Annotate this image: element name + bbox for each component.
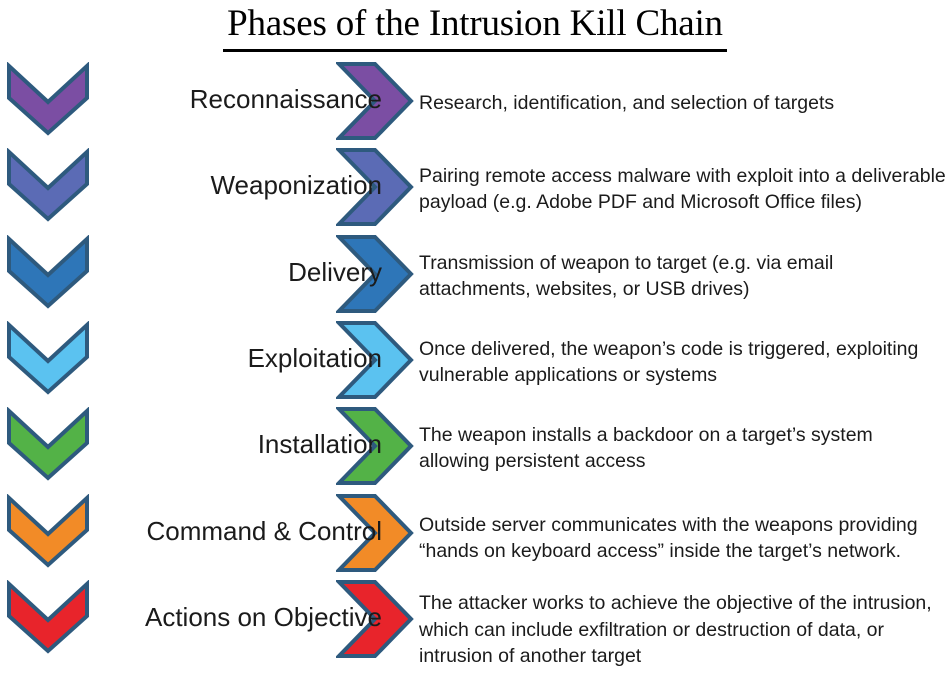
phase-label: Installation (90, 405, 382, 483)
page-title-text: Phases of the Intrusion Kill Chain (223, 3, 727, 52)
phase-description: Transmission of weapon to target (e.g. v… (419, 233, 947, 319)
phase-description: Research, identification, and selection … (419, 60, 947, 146)
down-chevron-icon (6, 235, 90, 309)
page-title: Phases of the Intrusion Kill Chain (0, 2, 950, 52)
down-chevron-icon (6, 148, 90, 222)
kill-chain-row: Delivery Transmission of weapon to targe… (0, 233, 950, 319)
kill-chain-row: Command & Control Outside server communi… (0, 492, 950, 578)
down-chevron-icon (6, 62, 90, 136)
down-chevron-icon (6, 321, 90, 395)
kill-chain-row: Installation The weapon installs a backd… (0, 405, 950, 491)
phase-description: Once delivered, the weapon’s code is tri… (419, 319, 947, 405)
kill-chain-row: Reconnaissance Research, identification,… (0, 60, 950, 146)
phase-label: Exploitation (90, 319, 382, 397)
phase-description: Outside server communicates with the wea… (419, 492, 947, 584)
phase-description: The attacker works to achieve the object… (419, 582, 947, 678)
phase-label: Weaponization (90, 146, 382, 224)
phase-label: Command & Control (60, 492, 382, 570)
phase-description: Pairing remote access malware with explo… (419, 146, 947, 232)
kill-chain-row: Weaponization Pairing remote access malw… (0, 146, 950, 232)
phase-label: Reconnaissance (90, 60, 382, 138)
kill-chain-row: Exploitation Once delivered, the weapon’… (0, 319, 950, 405)
kill-chain-rows: Reconnaissance Research, identification,… (0, 60, 950, 681)
down-chevron-icon (6, 407, 90, 481)
phase-description: The weapon installs a backdoor on a targ… (419, 405, 947, 491)
kill-chain-row: Actions on Objective The attacker works … (0, 578, 950, 664)
phase-label: Delivery (90, 233, 382, 311)
phase-label: Actions on Objective (60, 578, 382, 656)
